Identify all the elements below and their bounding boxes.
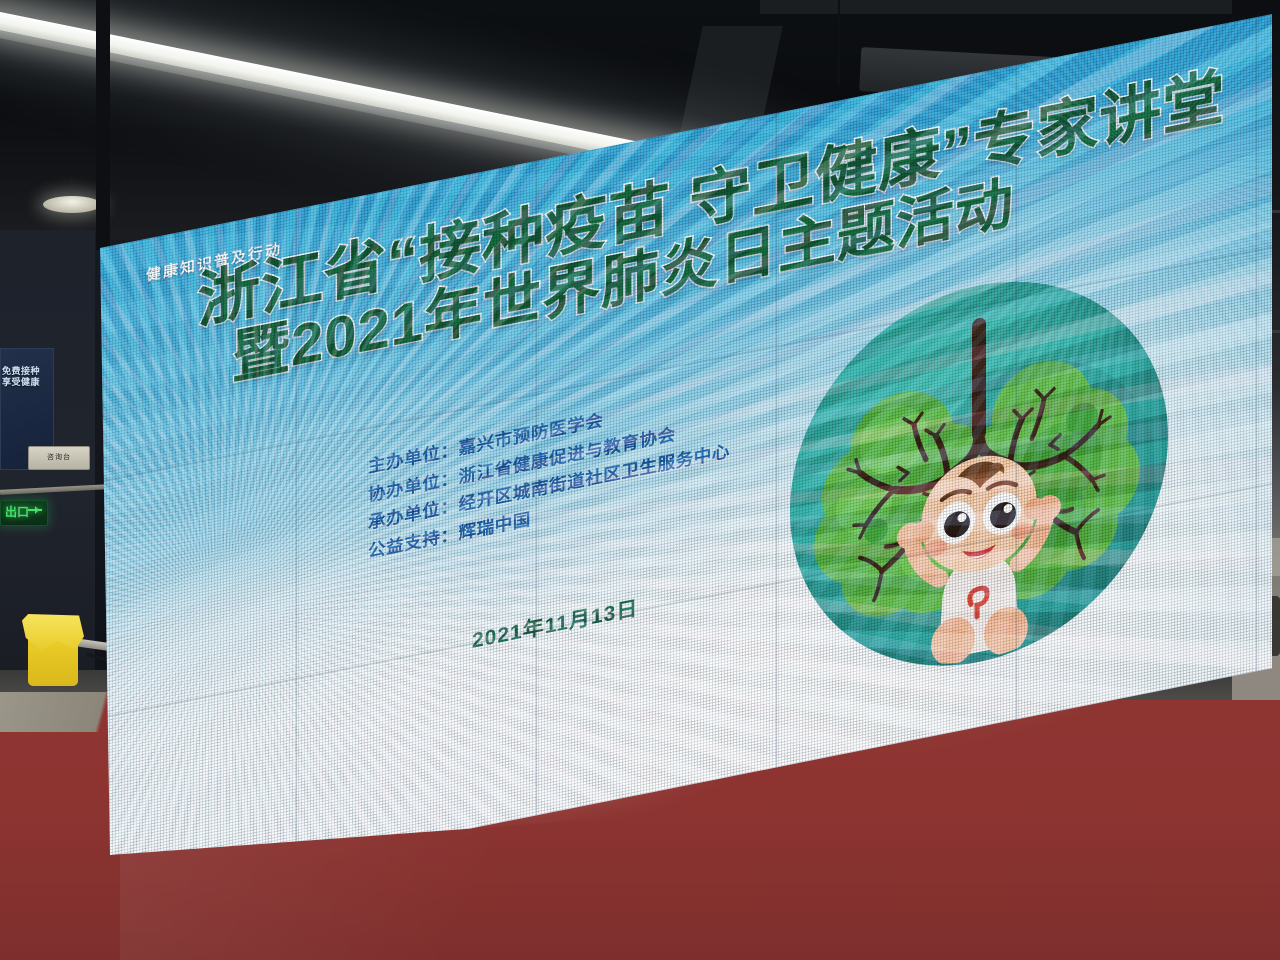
panel-seam — [1256, 0, 1257, 672]
left-pillar — [96, 0, 110, 250]
exit-sign-label: 出口 — [5, 505, 29, 520]
lung-illustration-graphic — [790, 248, 1168, 700]
lung-tree-baby-illustration — [790, 248, 1168, 700]
panel-seam — [1016, 0, 1017, 719]
event-photo-scene: 免费接种 享受健康 咨询台 出口 出口 — [0, 0, 1280, 960]
counter-plate-label: 咨询台 — [29, 447, 89, 469]
hanging-cable — [838, 0, 840, 86]
arrow-right-icon — [28, 509, 42, 511]
poster-text: 免费接种 享受健康 — [2, 366, 50, 388]
ceiling-dome-lamp — [43, 196, 101, 213]
lamp-stem — [70, 176, 73, 198]
exit-sign: 出口 — [0, 500, 48, 526]
counter-plate: 咨询台 — [28, 446, 90, 470]
panel-seam — [776, 0, 777, 767]
